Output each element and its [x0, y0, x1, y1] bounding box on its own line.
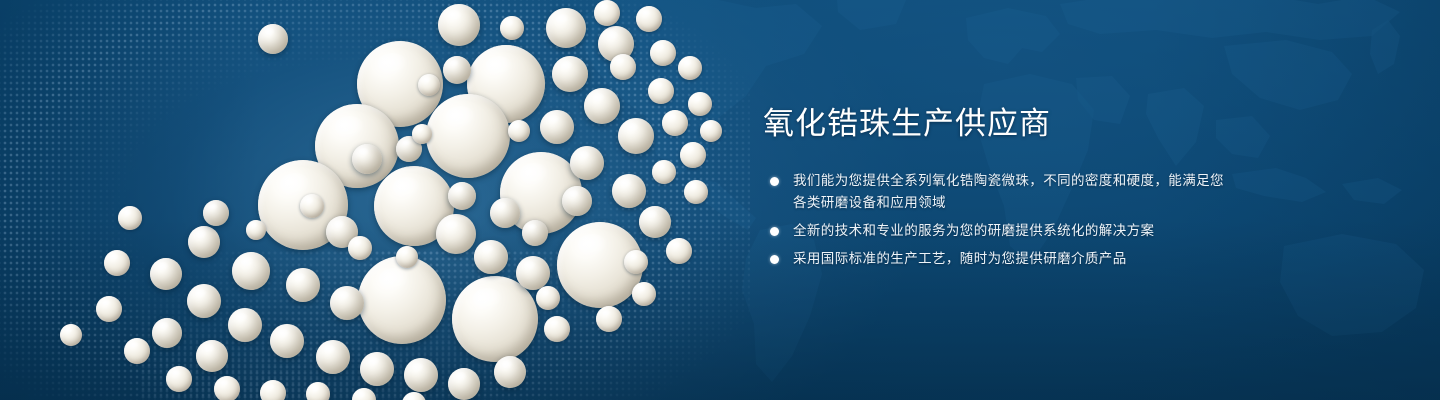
list-item-text: 全新的技术和专业的服务为您的研磨提供系统化的解决方案 — [793, 223, 1154, 238]
banner-text-block: 氧化锆珠生产供应商 我们能为您提供全系列氧化锆陶瓷微珠，不同的密度和硬度，能满足… — [763, 104, 1233, 270]
list-item-text: 采用国际标准的生产工艺，随时为您提供研磨介质产品 — [793, 251, 1127, 266]
page-title: 氧化锆珠生产供应商 — [763, 104, 1233, 144]
list-item: 全新的技术和专业的服务为您的研磨提供系统化的解决方案 — [763, 220, 1233, 242]
list-item-text: 我们能为您提供全系列氧化锆陶瓷微珠，不同的密度和硬度，能满足您各类研磨设备和应用… — [793, 173, 1224, 210]
list-item: 我们能为您提供全系列氧化锆陶瓷微珠，不同的密度和硬度，能满足您各类研磨设备和应用… — [763, 170, 1233, 214]
bullet-dot-icon — [770, 177, 779, 186]
feature-list: 我们能为您提供全系列氧化锆陶瓷微珠，不同的密度和硬度，能满足您各类研磨设备和应用… — [763, 170, 1233, 270]
list-item: 采用国际标准的生产工艺，随时为您提供研磨介质产品 — [763, 248, 1233, 270]
bullet-dot-icon — [770, 255, 779, 264]
bullet-dot-icon — [770, 227, 779, 236]
hero-banner: 氧化锆珠生产供应商 我们能为您提供全系列氧化锆陶瓷微珠，不同的密度和硬度，能满足… — [0, 0, 1440, 400]
